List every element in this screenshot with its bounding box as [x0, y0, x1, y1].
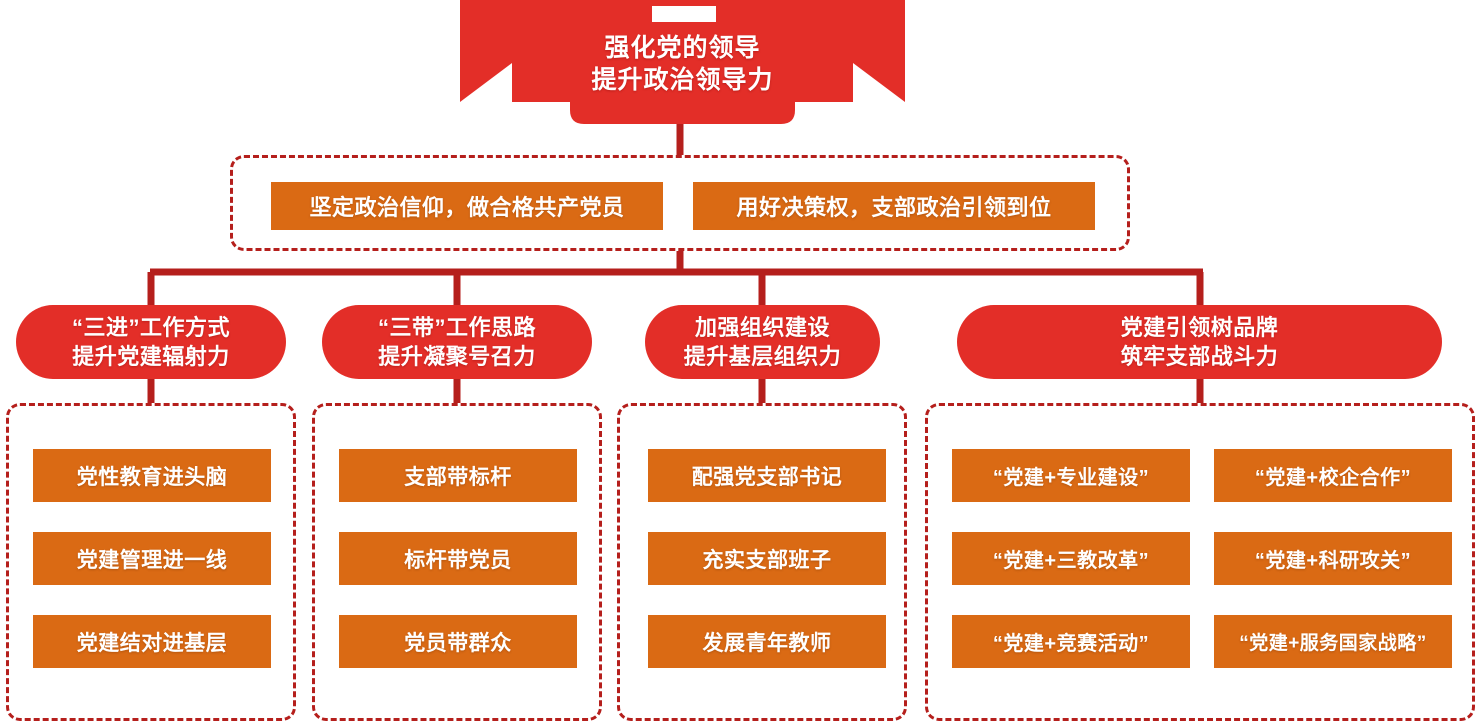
branch-2-item-1[interactable]: 标杆带党员	[339, 532, 577, 585]
branch-panel-1: 党性教育进头脑 党建管理进一线 党建结对进基层	[6, 403, 296, 721]
branch-4-item-1[interactable]: “党建+校企合作”	[1214, 449, 1452, 502]
branch-head-4-line1: 党建引领树品牌	[1121, 313, 1279, 342]
branch-head-3[interactable]: 加强组织建设 提升基层组织力	[645, 305, 880, 379]
branch-1-item-2[interactable]: 党建结对进基层	[33, 615, 271, 668]
ribbon-top-cover	[570, 0, 795, 6]
banner-title-line2: 提升政治领导力	[460, 64, 905, 96]
branch-4-item-4[interactable]: “党建+竞赛活动”	[952, 615, 1190, 668]
level2-chip-1[interactable]: 用好决策权，支部政治引领到位	[693, 182, 1095, 230]
branch-head-3-line2: 提升基层组织力	[684, 342, 842, 371]
banner-title: 强化党的领导 提升政治领导力	[460, 32, 905, 96]
banner-title-line1: 强化党的领导	[460, 32, 905, 64]
branch-head-2-line2: 提升凝聚号召力	[378, 342, 536, 371]
branch-1-item-1[interactable]: 党建管理进一线	[33, 532, 271, 585]
level2-panel: 坚定政治信仰，做合格共产党员 用好决策权，支部政治引领到位	[230, 155, 1130, 251]
level2-chip-0[interactable]: 坚定政治信仰，做合格共产党员	[271, 182, 663, 230]
branch-panel-4: “党建+专业建设” “党建+校企合作” “党建+三教改革” “党建+科研攻关” …	[925, 403, 1475, 721]
branch-head-1[interactable]: “三进”工作方式 提升党建辐射力	[16, 305, 286, 379]
branch-head-2-line1: “三带”工作思路	[378, 313, 536, 342]
branch-panel-3: 配强党支部书记 充实支部班子 发展青年教师	[617, 403, 907, 721]
branch-2-item-0[interactable]: 支部带标杆	[339, 449, 577, 502]
branch-3-item-2[interactable]: 发展青年教师	[648, 615, 886, 668]
diagram-canvas: 强化党的领导 提升政治领导力 坚定政治信仰，做合格共产党员 用好决策权，支部政治…	[0, 0, 1481, 726]
branch-4-item-2[interactable]: “党建+三教改革”	[952, 532, 1190, 585]
branch-4-item-5[interactable]: “党建+服务国家战略”	[1214, 615, 1452, 668]
branch-head-4[interactable]: 党建引领树品牌 筑牢支部战斗力	[957, 305, 1442, 379]
branch-1-item-0[interactable]: 党性教育进头脑	[33, 449, 271, 502]
branch-3-item-1[interactable]: 充实支部班子	[648, 532, 886, 585]
branch-panel-2: 支部带标杆 标杆带党员 党员带群众	[312, 403, 602, 721]
branch-head-1-line2: 提升党建辐射力	[72, 342, 230, 371]
branch-2-item-2[interactable]: 党员带群众	[339, 615, 577, 668]
branch-head-4-line2: 筑牢支部战斗力	[1121, 342, 1279, 371]
branch-head-1-line1: “三进”工作方式	[72, 313, 230, 342]
branch-4-item-3[interactable]: “党建+科研攻关”	[1214, 532, 1452, 585]
branch-3-item-0[interactable]: 配强党支部书记	[648, 449, 886, 502]
branch-4-item-0[interactable]: “党建+专业建设”	[952, 449, 1190, 502]
branch-head-3-line1: 加强组织建设	[684, 313, 842, 342]
branch-head-2[interactable]: “三带”工作思路 提升凝聚号召力	[322, 305, 592, 379]
header-banner: 强化党的领导 提升政治领导力	[460, 0, 905, 128]
